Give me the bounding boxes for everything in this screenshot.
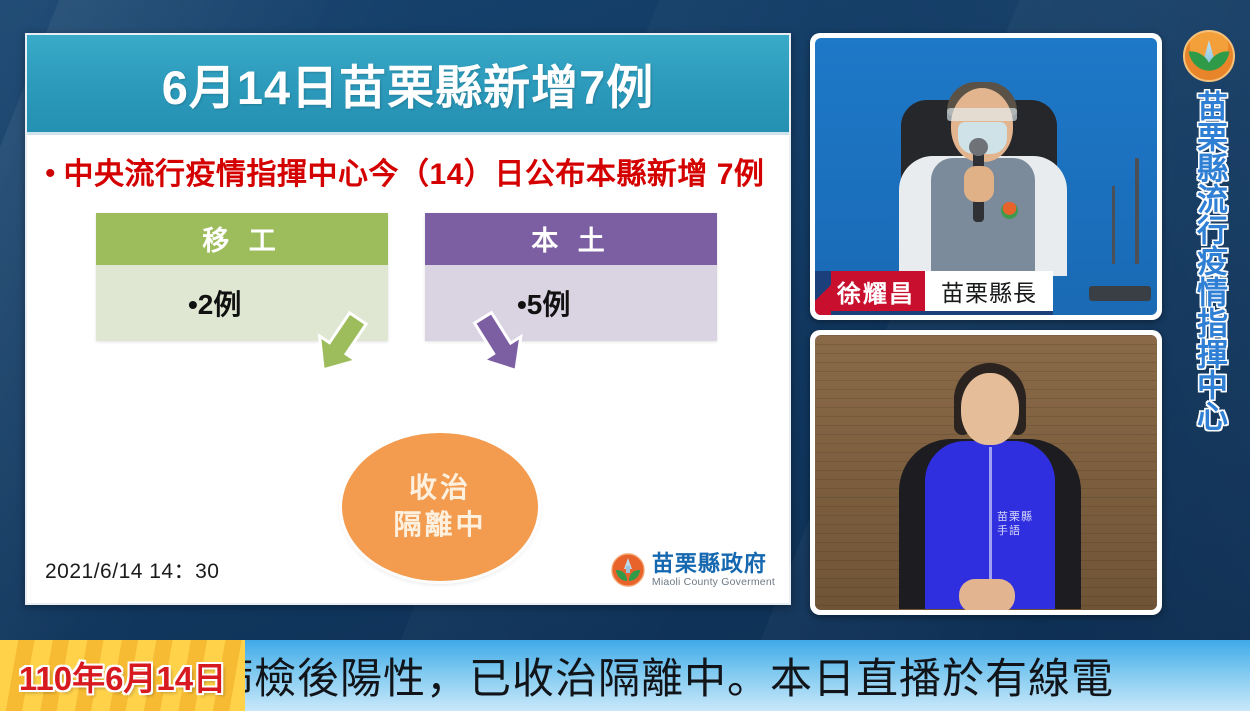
ticker-message-text: 篩檢後陽性，已收治隔離中。本日直播於有線電 bbox=[245, 645, 1114, 706]
video-panel-sign-language-interpreter[interactable]: 苗栗縣 手語 bbox=[810, 330, 1162, 615]
slide-footer: 2021/6/14 14：30 苗栗縣政府 Miaoli County Gove… bbox=[27, 537, 789, 603]
vertical-banner-text: 苗栗縣流行疫情指揮中心 bbox=[1193, 90, 1225, 431]
speaker-hand bbox=[964, 166, 994, 202]
speaker-video-frame: 徐耀昌 苗栗縣長 bbox=[815, 38, 1157, 315]
ticker-message-block: 篩檢後陽性，已收治隔離中。本日直播於有線電 bbox=[245, 640, 1250, 711]
signer-hands bbox=[959, 579, 1015, 610]
speaker-role: 苗栗縣長 bbox=[925, 271, 1053, 315]
desk-microphone-stand bbox=[1112, 186, 1115, 264]
speaker-name-tag: 徐耀昌 苗栗縣長 bbox=[815, 271, 1053, 315]
face-shield bbox=[947, 108, 1017, 121]
slide-title: 6月14日苗栗縣新增7例 bbox=[162, 49, 655, 118]
category-header-migrant-worker: 移 工 bbox=[96, 213, 388, 265]
vest-emblem-icon bbox=[1001, 202, 1018, 219]
slide-header-band: 6月14日苗栗縣新增7例 bbox=[27, 35, 789, 135]
signer-vest-text-line-1: 苗栗縣 bbox=[997, 511, 1033, 525]
signer-vest-text-line-2: 手語 bbox=[997, 525, 1033, 539]
presentation-slide: 6月14日苗栗縣新增7例 • 中央流行疫情指揮中心今（14）日公布本縣新增 7例… bbox=[25, 33, 791, 605]
bottom-ticker-bar: 110年6月14日 篩檢後陽性，已收治隔離中。本日直播於有線電 bbox=[0, 640, 1250, 711]
logo-text-english: Miaoli County Goverment bbox=[652, 576, 775, 588]
miaoli-emblem-icon bbox=[611, 553, 645, 587]
microphone-head-icon bbox=[969, 138, 988, 156]
signer-video-frame: 苗栗縣 手語 bbox=[815, 335, 1157, 610]
name-tag-wedge bbox=[815, 271, 831, 315]
bullet-marker-icon: • bbox=[45, 157, 56, 191]
slide-bullet-row: • 中央流行疫情指揮中心今（14）日公布本縣新增 7例 bbox=[41, 153, 767, 197]
slide-timestamp: 2021/6/14 14：30 bbox=[45, 555, 219, 585]
arrow-down-left-purple-icon bbox=[464, 309, 536, 381]
desk-microphone-base bbox=[1089, 286, 1151, 301]
logo-text-chinese: 苗栗縣政府 bbox=[652, 552, 775, 575]
category-header-local: 本 土 bbox=[425, 213, 717, 265]
arrow-down-right-green-icon bbox=[304, 309, 376, 381]
outcome-line-1: 收治 bbox=[409, 470, 471, 507]
slide-bullet-text: 中央流行疫情指揮中心今（14）日公布本縣新增 7例 bbox=[64, 153, 765, 197]
desk-microphone-stand bbox=[1135, 158, 1139, 264]
ticker-date-text: 110年6月14日 bbox=[19, 652, 226, 700]
category-box-group: 移 工 •2例 本 土 •5例 bbox=[27, 213, 789, 363]
signer-head bbox=[961, 373, 1019, 445]
speaker-name: 徐耀昌 bbox=[831, 271, 925, 315]
vertical-banner: 苗栗縣流行疫情指揮中心 bbox=[1176, 30, 1242, 620]
video-panel-speaker[interactable]: 徐耀昌 苗栗縣長 bbox=[810, 33, 1162, 320]
miaoli-emblem-icon bbox=[1183, 30, 1235, 82]
signer-vest-text: 苗栗縣 手語 bbox=[997, 511, 1033, 539]
miaoli-government-logo: 苗栗縣政府 Miaoli County Goverment bbox=[611, 552, 775, 587]
ticker-date-block: 110年6月14日 bbox=[0, 640, 245, 711]
